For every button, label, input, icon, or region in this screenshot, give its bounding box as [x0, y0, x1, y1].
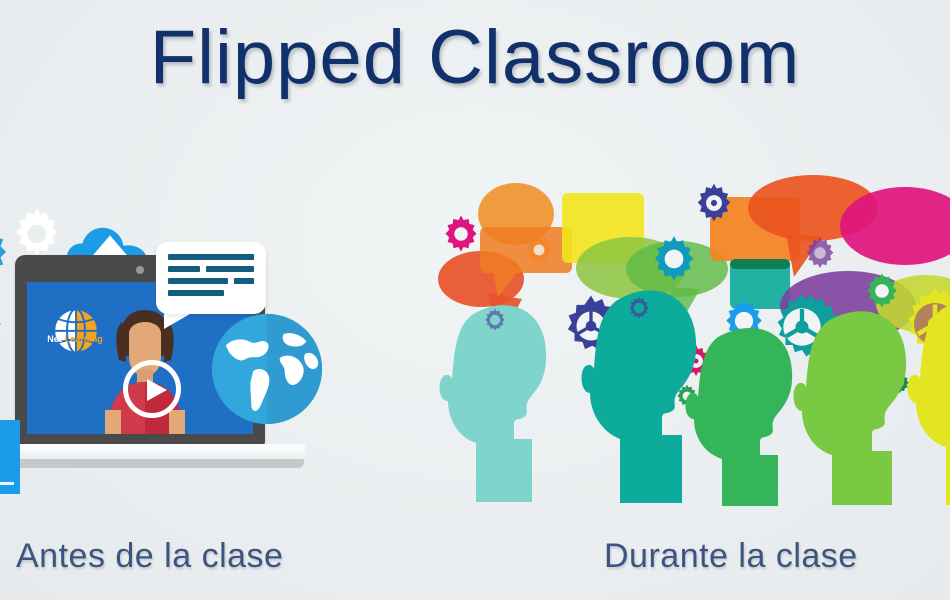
gear-teal-icon	[648, 233, 700, 285]
video-play-button[interactable]	[123, 360, 181, 418]
gear-magenta-icon	[440, 213, 482, 255]
during-class-illustration	[430, 175, 950, 500]
head-3	[682, 321, 800, 506]
head-5	[904, 293, 950, 505]
laptop-base	[0, 444, 305, 460]
video-progress-bar[interactable]	[0, 482, 14, 485]
illustration-canvas: Flipped Classroom	[0, 0, 950, 600]
page-title: Flipped Classroom	[0, 14, 950, 101]
gear-red-icon	[0, 287, 14, 365]
globe-icon	[208, 310, 326, 428]
gear-purple-icon	[802, 235, 838, 271]
head-4	[790, 305, 916, 505]
speech-bubble	[156, 242, 266, 314]
gear-badge-head-2-icon	[626, 295, 652, 321]
gear-orange-small-icon	[522, 233, 556, 267]
brand-text-primary: Net-	[47, 334, 65, 344]
brand-text-secondary: Learning	[65, 334, 103, 344]
caption-during-class: Durante la clase	[604, 537, 858, 576]
video-thumbnail-card[interactable]	[0, 420, 20, 494]
laptop-base-shadow	[0, 459, 304, 468]
before-class-illustration: Net-Learning	[0, 195, 370, 495]
bubble-magenta	[840, 187, 950, 265]
bubble-orange-tail	[492, 267, 526, 301]
gear-navy-icon	[692, 181, 736, 225]
caption-before-class: Antes de la clase	[16, 537, 283, 576]
gear-badge-head-1-icon	[482, 307, 508, 333]
webcam-icon	[136, 266, 144, 274]
bubble-teal-cap	[730, 259, 790, 269]
